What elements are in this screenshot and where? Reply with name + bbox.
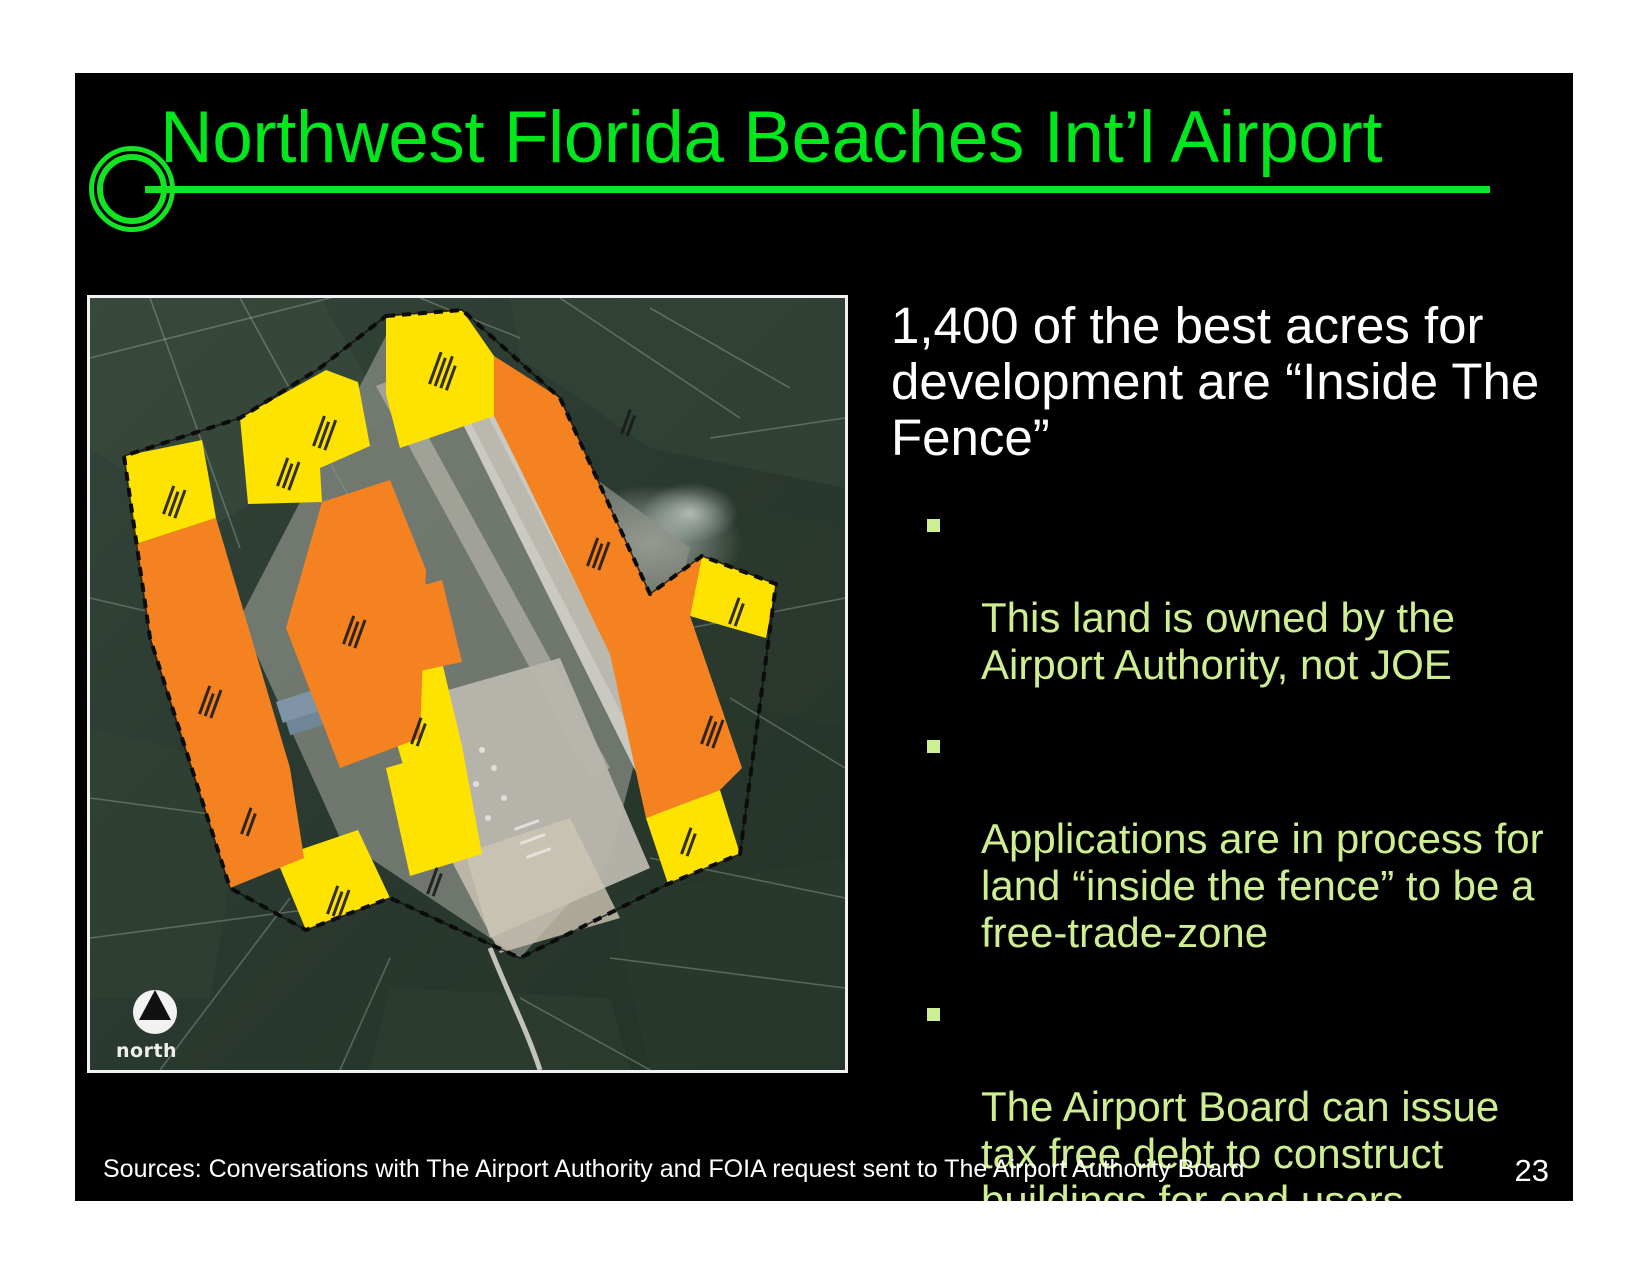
- page-title: Northwest Florida Beaches Int’l Airport: [160, 95, 1500, 181]
- bullet-square-icon: [927, 740, 940, 753]
- slide-title-block: Northwest Florida Beaches Int’l Airport: [75, 73, 1573, 221]
- source-note: Sources: Conversations with The Airport …: [103, 1154, 1244, 1184]
- list-item-label: Applications are in process for land “in…: [981, 815, 1544, 956]
- page-number: 23: [1515, 1153, 1549, 1189]
- list-item: Applications are in process for land “in…: [913, 721, 1555, 956]
- bullet-square-icon: [927, 519, 940, 532]
- title-underline-rule: [145, 186, 1490, 193]
- aerial-map-figure: north: [87, 295, 848, 1073]
- content-text-column: 1,400 of the best acres for development …: [883, 298, 1555, 1201]
- list-item: This land is owned by the Airport Author…: [913, 500, 1555, 688]
- headline-text: 1,400 of the best acres for development …: [883, 298, 1555, 466]
- compass-label: north: [116, 1040, 177, 1062]
- slide-canvas: Northwest Florida Beaches Int’l Airport: [75, 73, 1573, 1201]
- aerial-map-image: [90, 298, 845, 1070]
- bullet-list: This land is owned by the Airport Author…: [883, 500, 1555, 1201]
- list-item-label: This land is owned by the Airport Author…: [981, 594, 1455, 688]
- bullet-square-icon: [927, 1008, 940, 1021]
- compass-north-icon: [118, 972, 192, 1046]
